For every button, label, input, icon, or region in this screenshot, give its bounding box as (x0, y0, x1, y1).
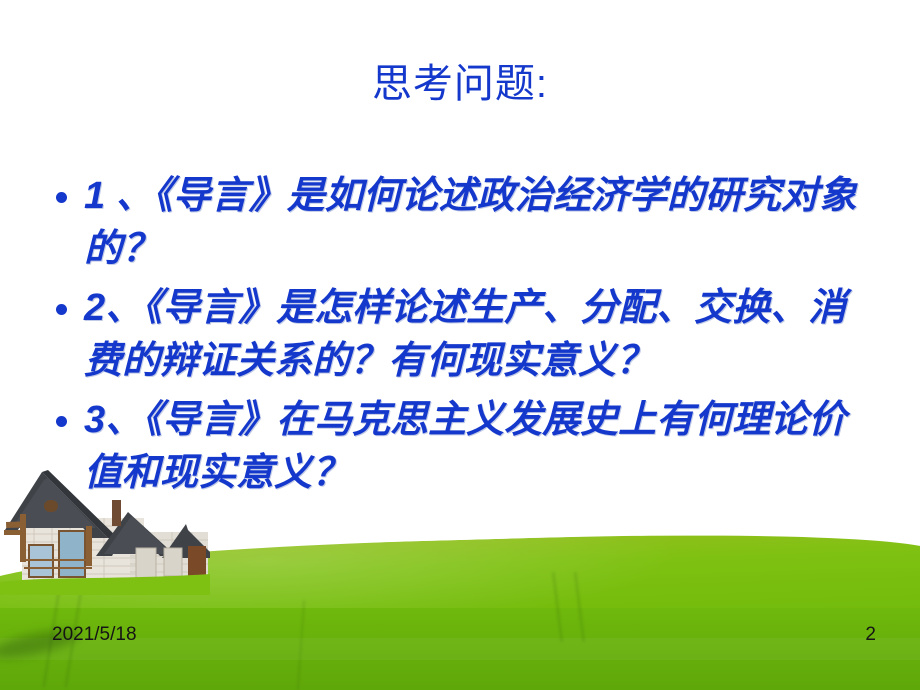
question-list: 1 、《导言》是如何论述政治经济学的研究对象的？ 2、《导言》是怎样论述生产、分… (44, 170, 884, 506)
list-item: 2、《导言》是怎样论述生产、分配、交换、消费的辩证关系的？有何现实意义？ (44, 282, 884, 388)
question-text-2: 2、《导言》是怎样论述生产、分配、交换、消费的辩证关系的？有何现实意义？ (84, 287, 846, 382)
question-text-1: 1 、《导言》是如何论述政治经济学的研究对象的？ (84, 175, 857, 270)
date-stamp: 2021/5/18 (52, 624, 137, 646)
list-item: 1 、《导言》是如何论述政治经济学的研究对象的？ (44, 170, 884, 276)
field-highlight-band (0, 638, 920, 660)
bullet-dot-icon (56, 192, 67, 203)
list-item: 3、《导言》在马克思主义发展史上有何理论价值和现实意义？ (44, 394, 884, 500)
page-number: 2 (865, 624, 876, 646)
bullet-dot-icon (56, 416, 67, 427)
question-text-3: 3、《导言》在马克思主义发展史上有何理论价值和现实意义？ (84, 399, 846, 494)
page-title: 思考问题: (0, 58, 920, 110)
slide-canvas: 思考问题: 1 、《导言》是如何论述政治经济学的研究对象的？ 2、《导言》是怎样… (0, 0, 920, 690)
bullet-dot-icon (56, 304, 67, 315)
